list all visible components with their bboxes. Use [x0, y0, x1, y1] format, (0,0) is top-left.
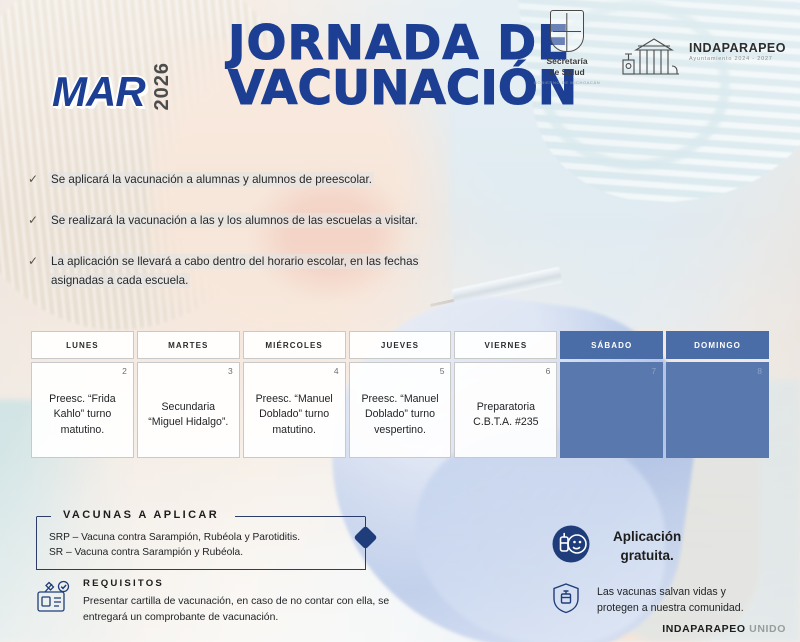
calendar-header-sabado: SÁBADO	[560, 331, 663, 359]
town-monument-icon	[620, 26, 682, 76]
bullet-text: Se aplicará la vacunación a alumnas y al…	[49, 170, 374, 189]
logo-salud-subtitle: GOBIERNO DE MICHOACÁN	[530, 80, 604, 85]
calendar-day-number: 6	[546, 366, 551, 376]
footer-brand: INDAPARAPEO UNIDO	[662, 623, 786, 635]
slogan-text: Las vacunas salvan vidas y protegen a nu…	[597, 585, 744, 616]
bullet-text: La aplicación se llevará a cabo dentro d…	[49, 252, 458, 290]
coat-of-arms-icon	[550, 10, 584, 52]
calendar-cell-day-4[interactable]: 4 Preesc. “Manuel Doblado” turno matutin…	[243, 362, 346, 458]
calendar-day-event: Preesc. “Frida Kahlo” turno matutino.	[39, 392, 126, 438]
logo-indaparapeo-text: INDAPARAPEO Ayuntamiento 2024 - 2027	[689, 41, 786, 62]
free-application-text: Aplicación gratuita.	[613, 528, 681, 564]
bullet-text-value: La aplicación se llevará a cabo dentro d…	[49, 254, 420, 288]
poster-canvas: MAR 2026 JORNADA DE VACUNACIÓN Secretarí…	[0, 0, 800, 642]
calendar-header-miercoles: MIÉRCOLES	[243, 331, 346, 359]
requirements-text-block: REQUISITOS Presentar cartilla de vacunac…	[83, 578, 406, 625]
logo-salud-line-2: de Salud	[530, 67, 604, 78]
calendar-day-event: Secundaria “Miguel Hidalgo”.	[145, 400, 232, 431]
calendar-cell-day-8[interactable]: 8	[666, 362, 769, 458]
check-icon: ✓	[28, 252, 39, 290]
list-item: ✓ Se aplicará la vacunación a alumnas y …	[28, 170, 458, 189]
month-label: MAR	[52, 71, 145, 113]
requirements-section: REQUISITOS Presentar cartilla de vacunac…	[36, 578, 406, 625]
check-icon: ✓	[28, 170, 39, 189]
footer-brand-secondary: UNIDO	[749, 623, 786, 635]
year-label: 2026	[151, 62, 174, 111]
logo-secretaria-de-salud: Secretaría de Salud GOBIERNO DE MICHOACÁ…	[530, 10, 604, 85]
calendar-day-event: Preesc. “Manuel Doblado” turno vespertin…	[357, 392, 444, 438]
calendar-day-number: 4	[334, 366, 339, 376]
logo-salud-line-1: Secretaría	[530, 56, 604, 67]
bullet-text-value: Se aplicará la vacunación a alumnas y al…	[49, 172, 374, 187]
calendar-header-domingo: DOMINGO	[666, 331, 769, 359]
list-item: ✓ La aplicación se llevará a cabo dentro…	[28, 252, 458, 290]
bullet-text-value: Se realizará la vacunación a las y los a…	[49, 213, 420, 228]
info-bullet-list: ✓ Se aplicará la vacunación a alumnas y …	[28, 170, 458, 291]
calendar-header-row: LUNES MARTES MIÉRCOLES JUEVES VIERNES SÁ…	[31, 331, 769, 359]
calendar-cell-day-7[interactable]: 7	[560, 362, 663, 458]
free-vaccine-icon	[551, 524, 591, 569]
calendar-day-event: Preesc. “Manuel Doblado” turno matutino.	[251, 392, 338, 438]
calendar-day-number: 2	[122, 366, 127, 376]
bullet-text: Se realizará la vacunación a las y los a…	[49, 211, 420, 230]
requirements-text: Presentar cartilla de vacunación, en cas…	[83, 594, 406, 625]
calendar-header-martes: MARTES	[137, 331, 240, 359]
logo-indaparapeo-subtitle: Ayuntamiento 2024 - 2027	[689, 56, 786, 62]
calendar-cell-day-2[interactable]: 2 Preesc. “Frida Kahlo” turno matutino.	[31, 362, 134, 458]
slogan-line-1: Las vacunas salvan vidas y	[597, 585, 744, 600]
calendar-day-number: 5	[440, 366, 445, 376]
vaccines-panel-title: VACUNAS A APLICAR	[57, 509, 225, 521]
calendar-day-number: 7	[651, 366, 656, 376]
calendar-cell-day-3[interactable]: 3 Secundaria “Miguel Hidalgo”.	[137, 362, 240, 458]
requirements-title: REQUISITOS	[83, 578, 406, 589]
free-application-line-1: Aplicación	[613, 528, 681, 546]
footer-brand-primary: INDAPARAPEO	[662, 623, 745, 635]
calendar-cell-day-5[interactable]: 5 Preesc. “Manuel Doblado” turno vespert…	[349, 362, 452, 458]
logo-indaparapeo: INDAPARAPEO Ayuntamiento 2024 - 2027	[620, 10, 786, 76]
calendar-body-row: 2 Preesc. “Frida Kahlo” turno matutino. …	[31, 362, 769, 458]
vaccine-item-srp: SRP – Vacuna contra Sarampión, Rubéola y…	[49, 530, 365, 545]
month-block: MAR 2026	[52, 62, 174, 113]
schedule-calendar: LUNES MARTES MIÉRCOLES JUEVES VIERNES SÁ…	[31, 331, 769, 458]
vaccines-list: SRP – Vacuna contra Sarampión, Rubéola y…	[37, 517, 365, 561]
logo-indaparapeo-name: INDAPARAPEO	[689, 41, 786, 55]
vaccines-panel: VACUNAS A APLICAR SRP – Vacuna contra Sa…	[36, 516, 366, 570]
check-icon: ✓	[28, 211, 39, 230]
vaccine-item-sr: SR – Vacuna contra Sarampión y Rubéola.	[49, 545, 365, 560]
slogan-line-2: protegen a nuestra comunidad.	[597, 601, 744, 616]
shield-vaccine-icon	[551, 582, 581, 619]
calendar-day-number: 3	[228, 366, 233, 376]
calendar-cell-day-6[interactable]: 6 Preparatoria C.B.T.A. #235	[454, 362, 557, 458]
free-application-badge: Aplicación gratuita.	[551, 524, 681, 569]
vaccination-card-icon	[36, 578, 72, 625]
list-item: ✓ Se realizará la vacunación a las y los…	[28, 211, 458, 230]
slogan-badge: Las vacunas salvan vidas y protegen a nu…	[551, 582, 744, 619]
logo-group: Secretaría de Salud GOBIERNO DE MICHOACÁ…	[530, 10, 786, 85]
calendar-header-lunes: LUNES	[31, 331, 134, 359]
calendar-header-viernes: VIERNES	[454, 331, 557, 359]
free-application-line-2: gratuita.	[613, 547, 681, 565]
calendar-day-event: Preparatoria C.B.T.A. #235	[462, 400, 549, 431]
calendar-header-jueves: JUEVES	[349, 331, 452, 359]
calendar-day-number: 8	[757, 366, 762, 376]
